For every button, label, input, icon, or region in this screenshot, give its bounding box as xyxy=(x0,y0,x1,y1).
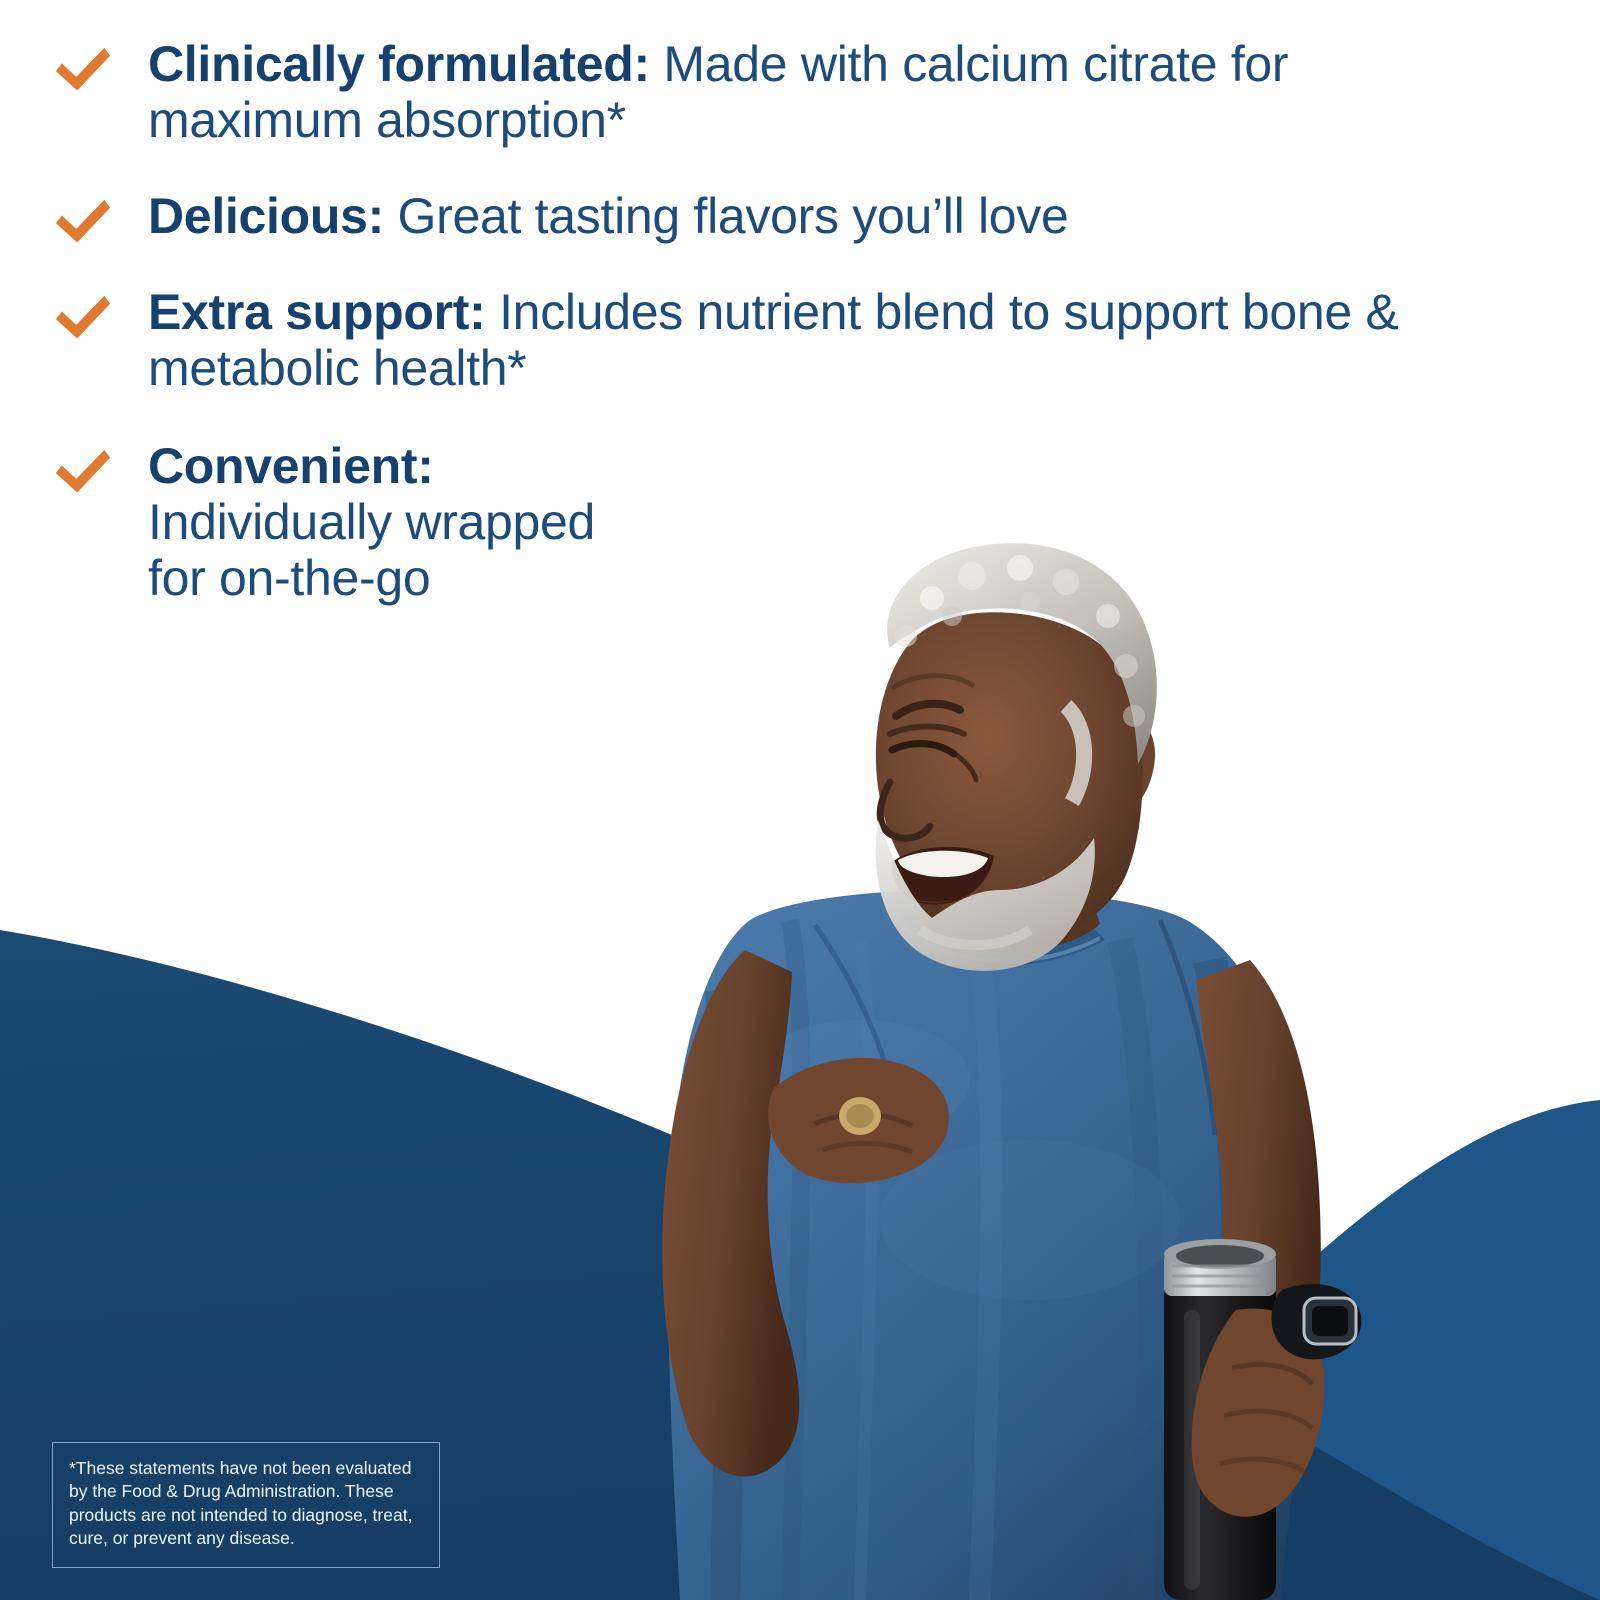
benefit-rest: Individually wrapped for on-the-go xyxy=(148,494,1472,606)
promo-graphic: Clinically formulated: Made with calcium… xyxy=(0,0,1600,1600)
checkmark-icon xyxy=(52,194,114,256)
benefit-text: Clinically formulated: Made with calcium… xyxy=(148,36,1472,148)
benefit-extra-support: Extra support: Includes nutrient blend t… xyxy=(52,284,1472,396)
disclaimer-box: *These statements have not been evaluate… xyxy=(52,1442,440,1568)
benefit-lead: Extra support: xyxy=(148,284,486,340)
disclaimer-text: *These statements have not been evaluate… xyxy=(69,1457,423,1551)
benefit-lead: Clinically formulated: xyxy=(148,36,650,92)
checkmark-icon xyxy=(52,444,114,506)
benefits-list: Clinically formulated: Made with calcium… xyxy=(52,36,1472,606)
benefit-text: Convenient:Individually wrapped for on-t… xyxy=(148,438,1472,606)
benefit-rest: Great tasting flavors you’ll love xyxy=(384,188,1069,244)
benefit-lead: Delicious: xyxy=(148,188,384,244)
smartwatch xyxy=(1271,1284,1361,1359)
benefit-delicious: Delicious: Great tasting flavors you’ll … xyxy=(52,188,1472,244)
benefit-convenient: Convenient:Individually wrapped for on-t… xyxy=(52,438,1472,606)
benefit-clinically-formulated: Clinically formulated: Made with calcium… xyxy=(52,36,1472,148)
hero-photo xyxy=(560,520,1460,1600)
benefit-text: Extra support: Includes nutrient blend t… xyxy=(148,284,1472,396)
benefit-lead: Convenient: xyxy=(148,438,434,494)
benefit-text: Delicious: Great tasting flavors you’ll … xyxy=(148,188,1472,244)
checkmark-icon xyxy=(52,290,114,352)
checkmark-icon xyxy=(52,42,114,104)
